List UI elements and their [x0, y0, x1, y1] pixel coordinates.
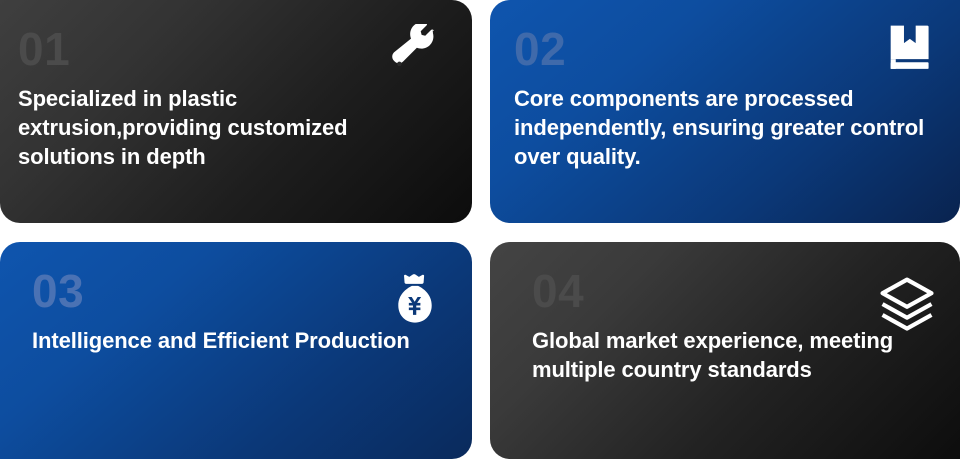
card-number: 04: [532, 268, 930, 314]
card-title: Intelligence and Efficient Production: [32, 326, 442, 355]
card-number: 03: [32, 268, 442, 314]
feature-card-04[interactable]: 04 Global market experience, meeting mul…: [490, 242, 960, 459]
feature-cards-grid: 01 Specialized in plastic extrusion,prov…: [0, 0, 960, 459]
card-title: Global market experience, meeting multip…: [532, 326, 902, 384]
card-number: 01: [18, 26, 442, 72]
feature-card-03[interactable]: 03 Intelligence and Efficient Production: [0, 242, 472, 459]
card-title: Specialized in plastic extrusion,providi…: [18, 84, 438, 171]
card-title: Core components are processed independen…: [514, 84, 930, 171]
feature-card-02[interactable]: 02 Core components are processed indepen…: [490, 0, 960, 223]
card-number: 02: [514, 26, 930, 72]
feature-card-01[interactable]: 01 Specialized in plastic extrusion,prov…: [0, 0, 472, 223]
